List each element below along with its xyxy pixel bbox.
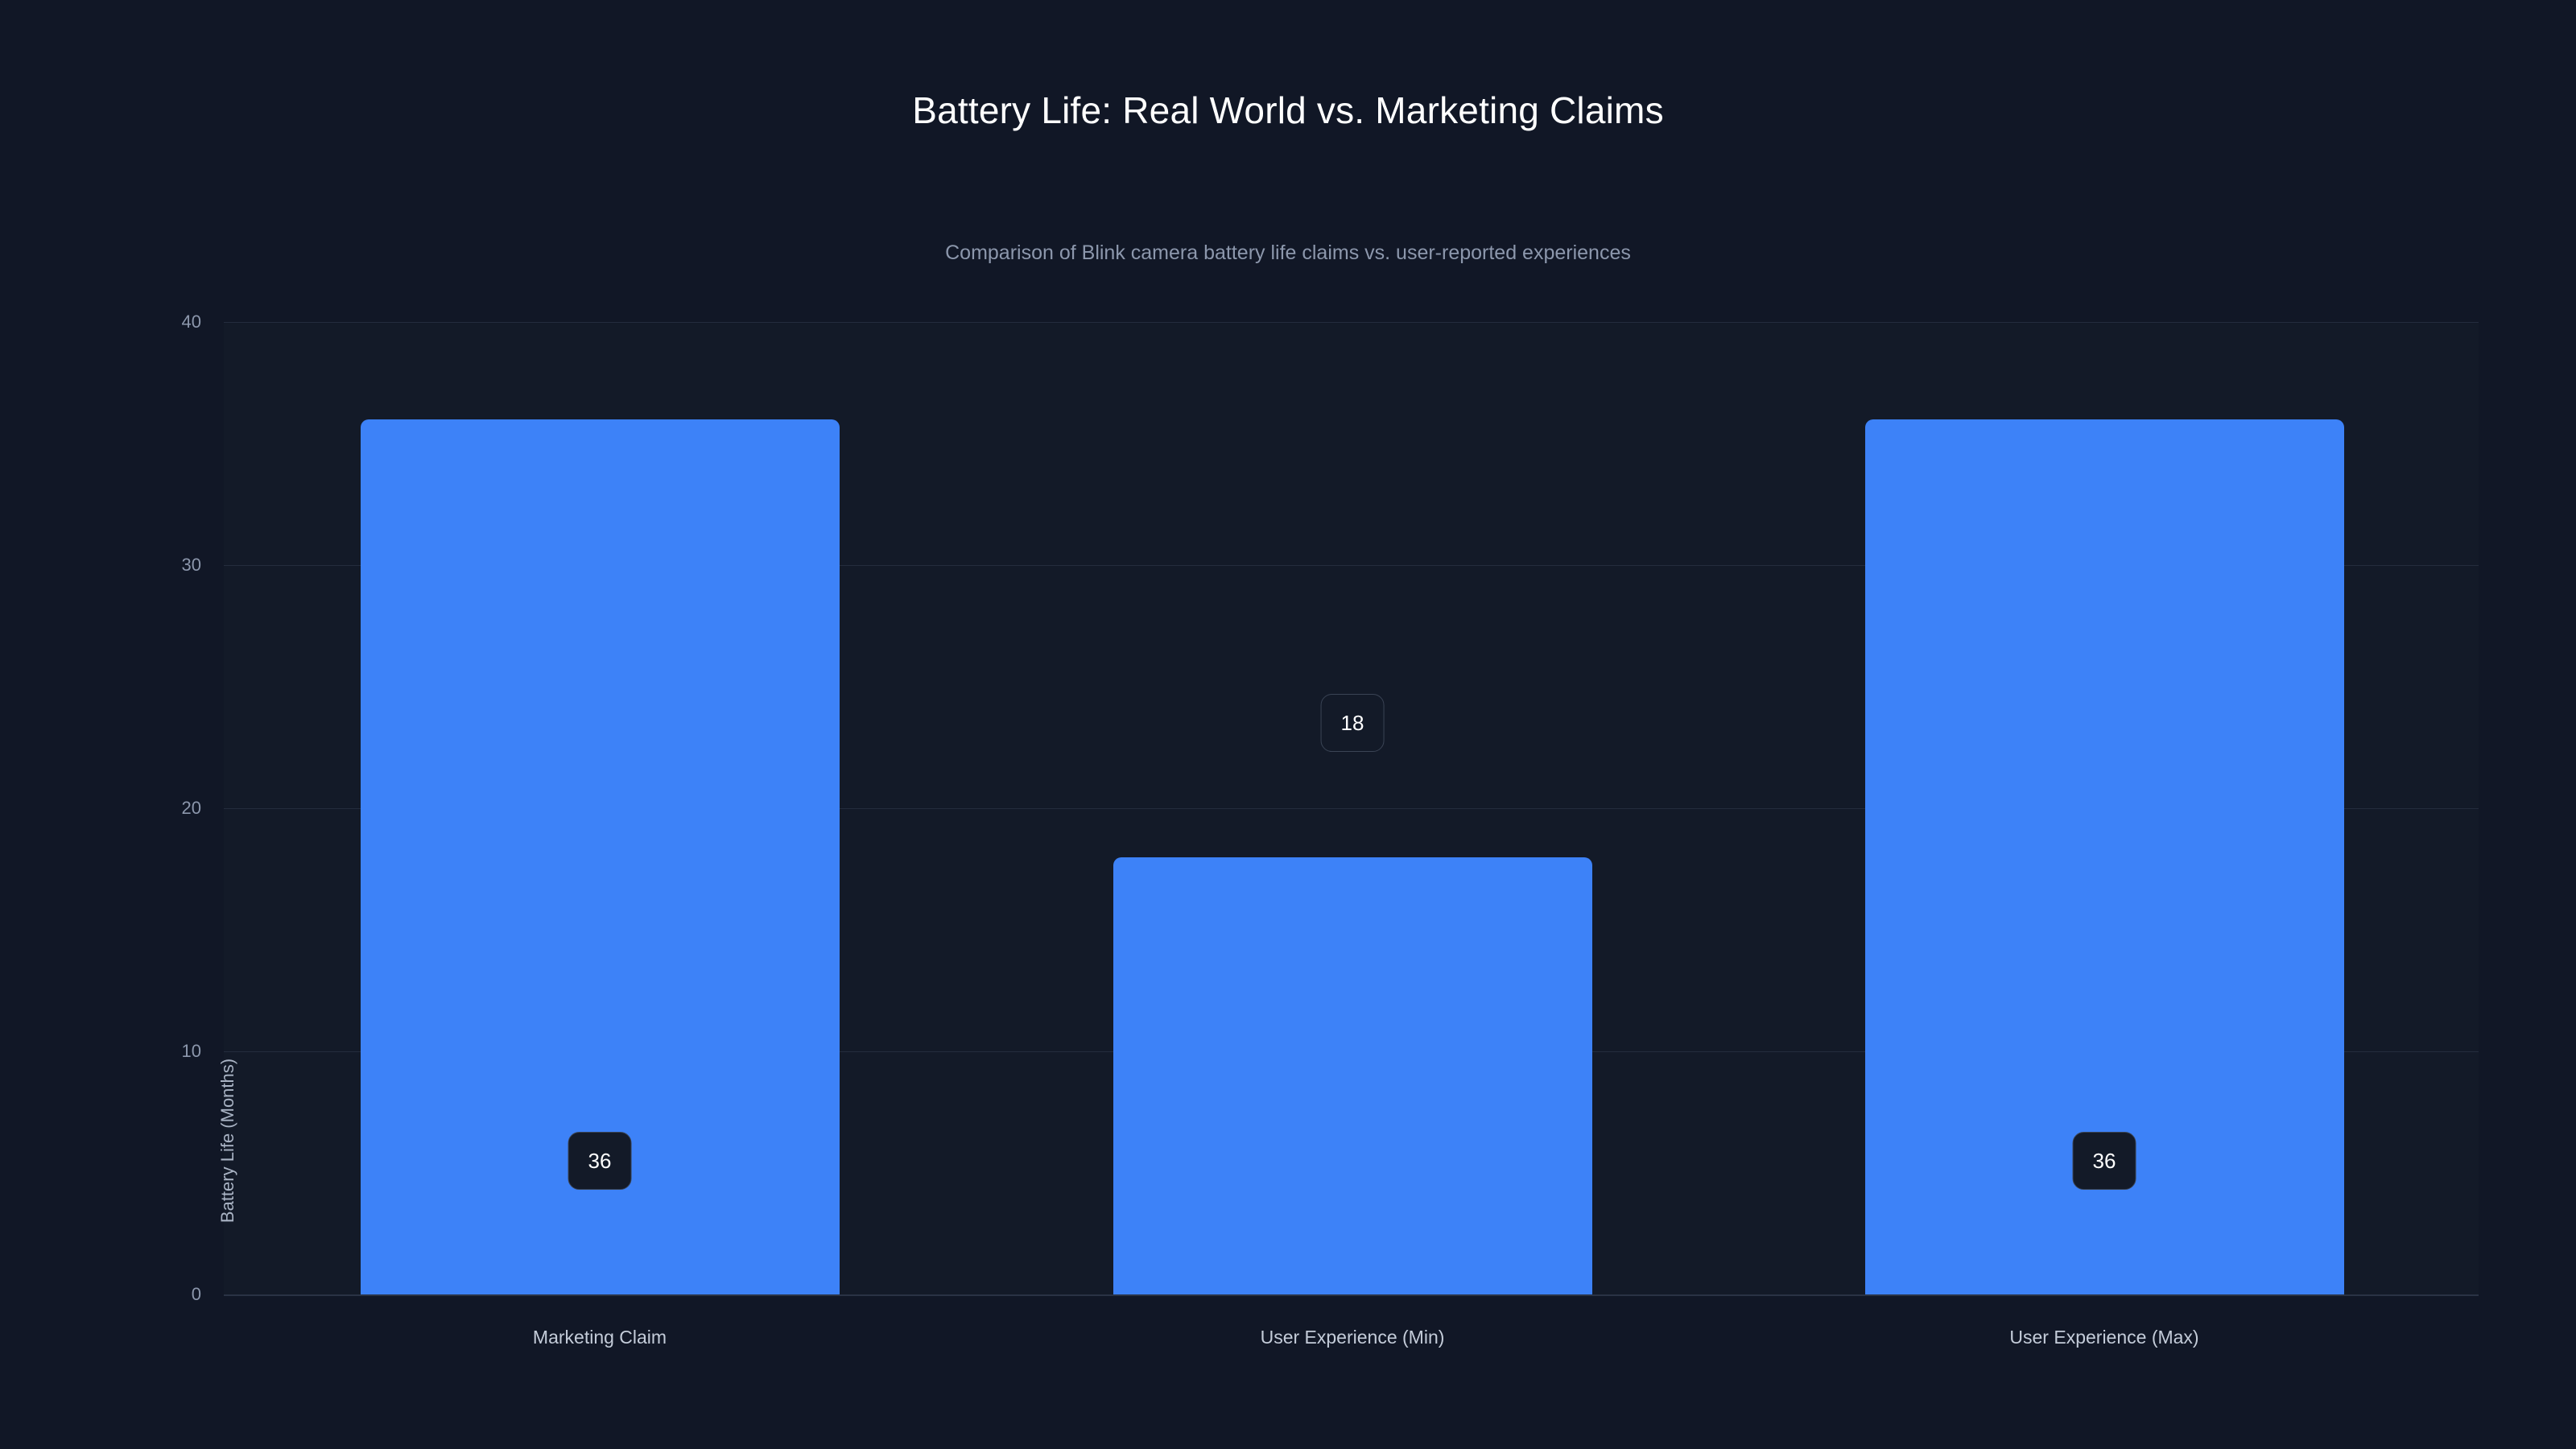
gridline-40 [224, 322, 2479, 323]
y-tick-label-30: 30 [24, 555, 201, 576]
x-axis-line [224, 1294, 2479, 1296]
value-badge-user-experience-min: 18 [1321, 694, 1385, 752]
y-tick-label-20: 20 [24, 798, 201, 819]
y-tick-label-10: 10 [24, 1041, 201, 1062]
y-axis-title: Battery Life (Months) [217, 859, 238, 1422]
y-tick-label-40: 40 [24, 312, 201, 332]
chart-title: Battery Life: Real World vs. Marketing C… [0, 89, 2576, 132]
x-tick-label-marketing-claim: Marketing Claim [533, 1327, 667, 1348]
y-tick-label-0: 0 [24, 1284, 201, 1305]
chart-figure: Battery Life: Real World vs. Marketing C… [0, 0, 2576, 1449]
value-badge-marketing-claim: 36 [568, 1132, 632, 1190]
x-tick-label-user-experience-min: User Experience (Min) [1261, 1327, 1445, 1348]
x-tick-label-user-experience-max: User Experience (Max) [2009, 1327, 2198, 1348]
value-badge-user-experience-max: 36 [2073, 1132, 2136, 1190]
bar-user-experience-min[interactable] [1113, 857, 1592, 1294]
chart-subtitle: Comparison of Blink camera battery life … [0, 242, 2576, 265]
plot-area: 36 18 36 Battery Life (Months) [224, 322, 2479, 1294]
